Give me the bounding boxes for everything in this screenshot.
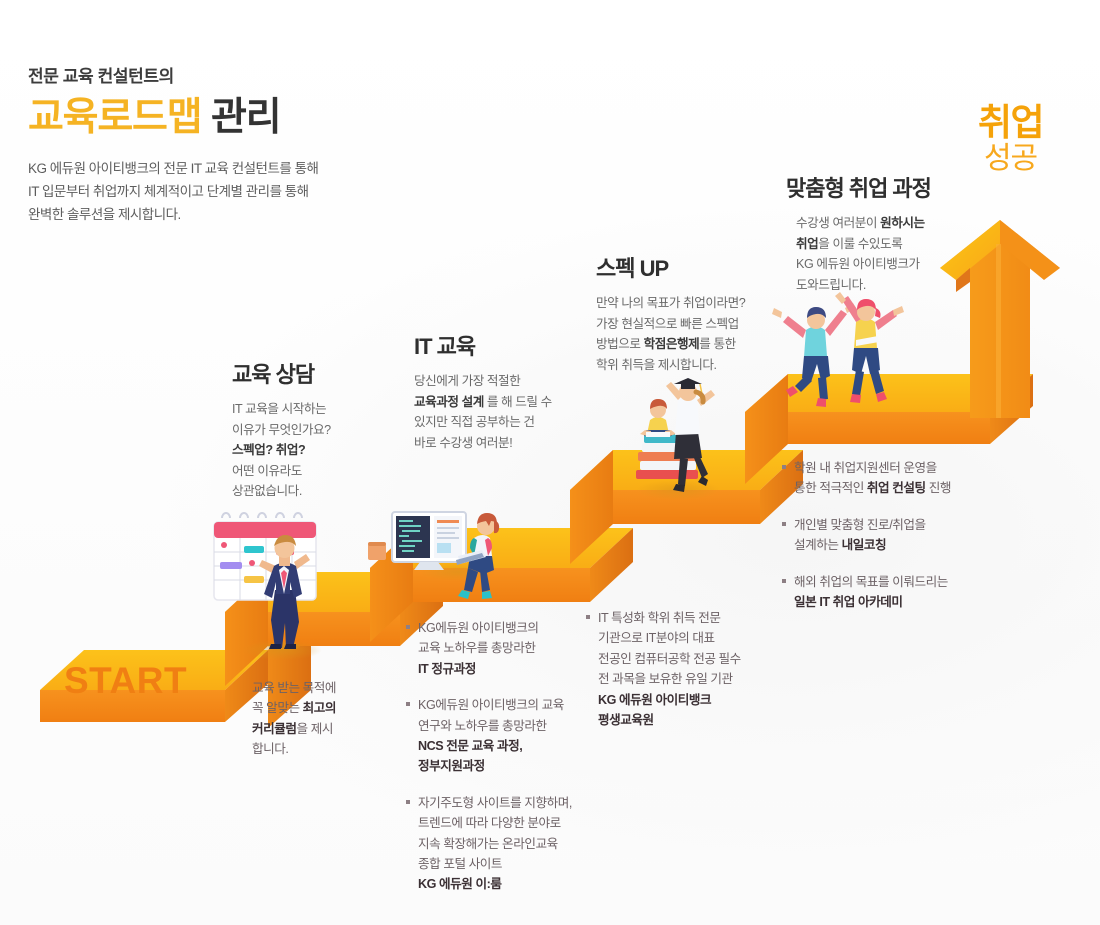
step-2-desc-line-2-bold: 교육과정 설계 — [414, 395, 484, 409]
list-item: 자기주도형 사이트를 지향하며, 트렌드에 따라 다양한 분야로 지속 확장해가… — [406, 793, 596, 895]
roadmap-infographic: 전문 교육 컨설턴트의 교육로드맵 관리 KG 에듀원 아이티뱅크의 전문 IT… — [0, 0, 1100, 925]
step-1-description: IT 교육을 시작하는 이유가 무엇인가요? 스펙업? 취업? 어떤 이유라도 … — [232, 399, 412, 501]
step-3-header: 스펙 UP 만약 나의 목표가 취업이라면? 가장 현실적으로 빠른 스펙업 방… — [596, 256, 806, 375]
step-2-bullets: KG에듀원 아이티뱅크의 교육 노하우를 총망라한 IT 정규과정 KG에듀원 … — [406, 618, 596, 895]
step-2-bullet-1-line-1: KG에듀원 아이티뱅크의 — [418, 618, 596, 638]
step-2-bullet-3-line-5: KG 에듀원 이:룸 — [418, 877, 502, 891]
list-item: IT 특성화 학위 취득 전문 기관으로 IT분야의 대표 전공인 컴퓨터공학 … — [586, 608, 786, 730]
step-2-bullet-1-line-2: 교육 노하우를 총망라한 — [418, 638, 596, 658]
step-4-bullet-3-line-2: 일본 IT 취업 아카데미 — [794, 595, 903, 609]
step-1-desc-line-3: 스펙업? 취업? — [232, 443, 305, 457]
header-lead-line-1: KG 에듀원 아이티뱅크의 전문 IT 교육 컨설턴트를 통해 — [28, 157, 508, 180]
step-4-desc-line-2-suffix: 을 이룰 수있도록 — [818, 237, 902, 251]
list-item: 학원 내 취업지원센터 운영을 통한 적극적인 취업 컨설팅 진행 — [782, 458, 992, 499]
step-4-bullet-1-line-2-suffix: 진행 — [926, 481, 951, 495]
step-1-header: 교육 상담 IT 교육을 시작하는 이유가 무엇인가요? 스펙업? 취업? 어떤… — [232, 362, 412, 501]
list-item: KG에듀원 아이티뱅크의 교육 연구와 노하우를 총망라한 NCS 전문 교육 … — [406, 695, 596, 777]
step-2-bullet-2-line-2: 연구와 노하우를 총망라한 — [418, 716, 596, 736]
step-2-bullet-1-line-3: IT 정규과정 — [418, 662, 476, 676]
step-1-heading: 교육 상담 — [232, 362, 412, 388]
step-4-bullet-3-line-1: 해외 취업의 목표를 이뤄드리는 — [794, 572, 992, 592]
goal-label-line-1: 취업 — [978, 104, 1043, 141]
step-3-description: 만약 나의 목표가 취업이라면? 가장 현실적으로 빠른 스펙업 방법으로 학점… — [596, 293, 806, 375]
step-2-desc-line-4: 바로 수강생 여러분! — [414, 433, 614, 453]
step-4-bullet-1-line-2-prefix: 통한 적극적인 — [794, 481, 867, 495]
step-3-bullet-1-line-2: 기관으로 IT분야의 대표 — [598, 628, 786, 648]
step-2-bullet-2-line-4: 정부지원과정 — [418, 759, 485, 773]
step-3-desc-line-3-suffix: 를 통한 — [699, 337, 735, 351]
step-3-bullet-1-line-6: 평생교육원 — [598, 713, 654, 727]
step-3-desc-line-4: 학위 취득을 제시합니다. — [596, 355, 806, 375]
step-2-desc-line-1: 당신에게 가장 적절한 — [414, 371, 614, 391]
header-lead-line-3: 완벽한 솔루션을 제시합니다. — [28, 203, 508, 226]
goal-label: 취업 성공 — [978, 104, 1043, 174]
step-3-desc-line-2: 가장 현실적으로 빠른 스펙업 — [596, 314, 806, 334]
step-4-header: 맞춤형 취업 과정 수강생 여러분이 원하시는 취업을 이룰 수있도록 KG 에… — [786, 176, 996, 295]
list-item: KG에듀원 아이티뱅크의 교육 노하우를 총망라한 IT 정규과정 — [406, 618, 596, 679]
step-1-note: 교육 받는 목적에 꼭 알맞는 최고의 커리큘럼을 제시 합니다. — [252, 678, 402, 760]
list-item: 해외 취업의 목표를 이뤄드리는 일본 IT 취업 아카데미 — [782, 572, 992, 613]
step-2-desc-line-2-suffix: 를 해 드릴 수 — [484, 395, 552, 409]
step-4-desc-line-1-prefix: 수강생 여러분이 — [796, 216, 880, 230]
header-block: 전문 교육 컨설턴트의 교육로드맵 관리 KG 에듀원 아이티뱅크의 전문 IT… — [28, 62, 508, 226]
step-1-desc-line-1: IT 교육을 시작하는 — [232, 399, 412, 419]
step-3-desc-line-3-bold: 학점은행제 — [644, 337, 700, 351]
step-1-note-line-3-bold: 커리큘럼 — [252, 722, 297, 736]
step-3-desc-line-3-prefix: 방법으로 — [596, 337, 644, 351]
graduate-and-reader-on-books-illustration — [636, 378, 715, 492]
step-3-heading: 스펙 UP — [596, 256, 806, 282]
step-4-bullet-2-line-2-prefix: 설계하는 — [794, 538, 842, 552]
step-4-bullet-2-line-1: 개인별 맞춤형 진로/취업을 — [794, 515, 992, 535]
start-label: START — [64, 660, 187, 702]
step-2-heading: IT 교육 — [414, 334, 614, 360]
step-1-desc-line-5: 상관없습니다. — [232, 481, 412, 501]
step-4-description: 수강생 여러분이 원하시는 취업을 이룰 수있도록 KG 에듀원 아이티뱅크가 … — [786, 213, 996, 295]
list-item: 개인별 맞춤형 진로/취업을 설계하는 내일코칭 — [782, 515, 992, 556]
step-2-header: IT 교육 당신에게 가장 적절한 교육과정 설계 를 해 드릴 수 있지만 직… — [414, 334, 614, 453]
step-1-note-line-1: 교육 받는 목적에 — [252, 678, 402, 698]
step-2-bullet-3-line-4: 종합 포털 사이트 — [418, 854, 596, 874]
goal-label-line-2: 성공 — [978, 144, 1043, 174]
step-2-bullet-2-line-3: NCS 전문 교육 과정, — [418, 739, 522, 753]
page-title: 교육로드맵 관리 — [28, 96, 508, 140]
page-title-rest: 관리 — [201, 96, 280, 139]
header-lead: KG 에듀원 아이티뱅크의 전문 IT 교육 컨설턴트를 통해 IT 입문부터 … — [28, 157, 508, 227]
step-4-desc-line-4: 도와드립니다. — [796, 275, 996, 295]
step-3-bullet-1-line-1: IT 특성화 학위 취득 전문 — [598, 608, 786, 628]
step-1-note-line-2-bold: 최고의 — [303, 701, 336, 715]
step-3-bullet-1-line-4: 전 과목을 보유한 유일 기관 — [598, 669, 786, 689]
step-4-bullet-2-line-2-bold: 내일코칭 — [842, 538, 887, 552]
step-2-desc-line-3: 있지만 직접 공부하는 건 — [414, 412, 614, 432]
step-4-bullet-1-line-2-bold: 취업 컨설팅 — [867, 481, 926, 495]
step-4-heading: 맞춤형 취업 과정 — [786, 176, 996, 202]
step-3-bullets: IT 특성화 학위 취득 전문 기관으로 IT분야의 대표 전공인 컴퓨터공학 … — [586, 608, 786, 730]
step-4-desc-line-1-bold: 원하시는 — [880, 216, 925, 230]
page-title-highlight: 교육로드맵 — [28, 96, 201, 139]
step-1-note-line-4: 합니다. — [252, 739, 402, 759]
step-3-bullet-1-line-5: KG 에듀원 아이티뱅크 — [598, 693, 711, 707]
step-4-desc-line-2-bold: 취업 — [796, 237, 818, 251]
step-4-desc-line-3: KG 에듀원 아이티뱅크가 — [796, 254, 996, 274]
step-2-bullet-2-line-1: KG에듀원 아이티뱅크의 교육 — [418, 695, 596, 715]
step-4-bullet-1-line-1: 학원 내 취업지원센터 운영을 — [794, 458, 992, 478]
step-3-desc-line-1: 만약 나의 목표가 취업이라면? — [596, 293, 806, 313]
step-2-description: 당신에게 가장 적절한 교육과정 설계 를 해 드릴 수 있지만 직접 공부하는… — [414, 371, 614, 453]
step-4-bullets: 학원 내 취업지원센터 운영을 통한 적극적인 취업 컨설팅 진행 개인별 맞춤… — [782, 458, 992, 612]
step-1-desc-line-4: 어떤 이유라도 — [232, 461, 412, 481]
step-1-note-line-3-suffix: 을 제시 — [297, 722, 333, 736]
step-2-bullet-3-line-3: 지속 확장해가는 온라인교육 — [418, 834, 596, 854]
step-1-note-line-2-prefix: 꼭 알맞는 — [252, 701, 303, 715]
step-1-desc-line-2: 이유가 무엇인가요? — [232, 420, 412, 440]
header-kicker: 전문 교육 컨설턴트의 — [28, 62, 508, 87]
step-3-bullet-1-line-3: 전공인 컴퓨터공학 전공 필수 — [598, 649, 786, 669]
step-2-bullet-3-line-1: 자기주도형 사이트를 지향하며, — [418, 793, 596, 813]
header-lead-line-2: IT 입문부터 취업까지 체계적이고 단계별 관리를 통해 — [28, 180, 508, 203]
step-2-bullet-3-line-2: 트렌드에 따라 다양한 분야로 — [418, 813, 596, 833]
